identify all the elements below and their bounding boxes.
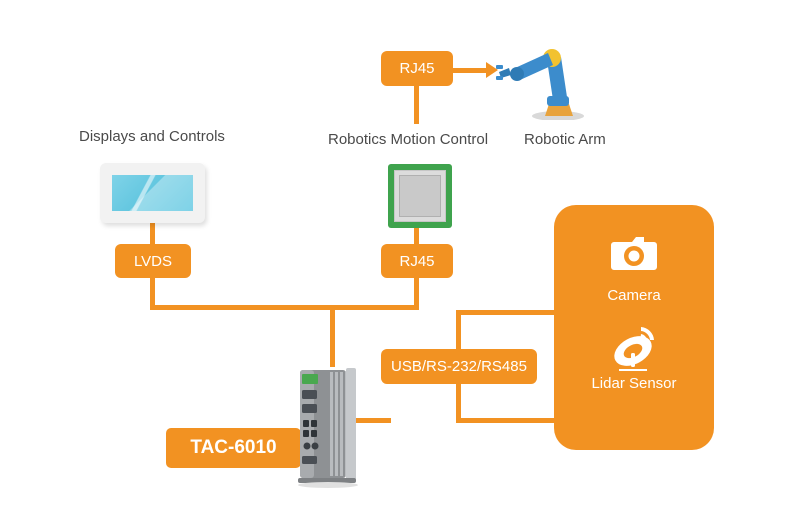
cpu-die xyxy=(399,175,441,217)
satellite-dish-icon xyxy=(609,323,661,371)
camera-icon xyxy=(609,230,659,276)
pill-rj45-mid-label: RJ45 xyxy=(399,253,434,270)
pill-rj45-top-label: RJ45 xyxy=(399,60,434,77)
label-displays-and-controls: Displays and Controls xyxy=(79,128,225,145)
pill-lvds-label: LVDS xyxy=(134,253,172,270)
sensor-card: Camera Lidar Sensor xyxy=(554,205,714,450)
pill-rj45-mid[interactable]: RJ45 xyxy=(381,244,453,278)
pill-usb-label: USB/RS-232/RS485 xyxy=(391,358,527,375)
pill-rj45-top[interactable]: RJ45 xyxy=(381,51,453,86)
pill-device-name-label: TAC-6010 xyxy=(190,437,276,459)
camera-label: Camera xyxy=(554,287,714,304)
label-robotics-motion-control: Robotics Motion Control xyxy=(328,131,488,148)
lidar-label: Lidar Sensor xyxy=(554,375,714,392)
connector-right-upper-horizontal xyxy=(456,310,560,315)
pill-lvds[interactable]: LVDS xyxy=(115,244,191,278)
label-robotic-arm: Robotic Arm xyxy=(524,131,606,148)
connector-rj45-top-vertical xyxy=(414,86,419,124)
tablet-screen xyxy=(112,175,193,211)
connector-rj45-to-arm xyxy=(453,68,488,73)
connector-usb-right-horizontal xyxy=(456,418,560,423)
tablet-screen-glare xyxy=(112,175,193,211)
tablet-device xyxy=(100,163,205,223)
connector-main-bus-horizontal xyxy=(150,305,419,310)
pill-usb-rs232-rs485[interactable]: USB/RS-232/RS485 xyxy=(381,349,537,384)
cpu-substrate xyxy=(394,170,446,222)
diagram-canvas: Displays and Controls Robotics Motion Co… xyxy=(0,0,800,508)
connector-bus-to-device xyxy=(330,305,335,367)
connector-right-upper-vertical xyxy=(456,310,461,352)
pill-device-name[interactable]: TAC-6010 xyxy=(166,428,301,468)
robotic-arm-illustration xyxy=(495,20,605,120)
cpu-chip xyxy=(388,164,452,228)
tac-6010-embedded-pc xyxy=(292,364,372,489)
